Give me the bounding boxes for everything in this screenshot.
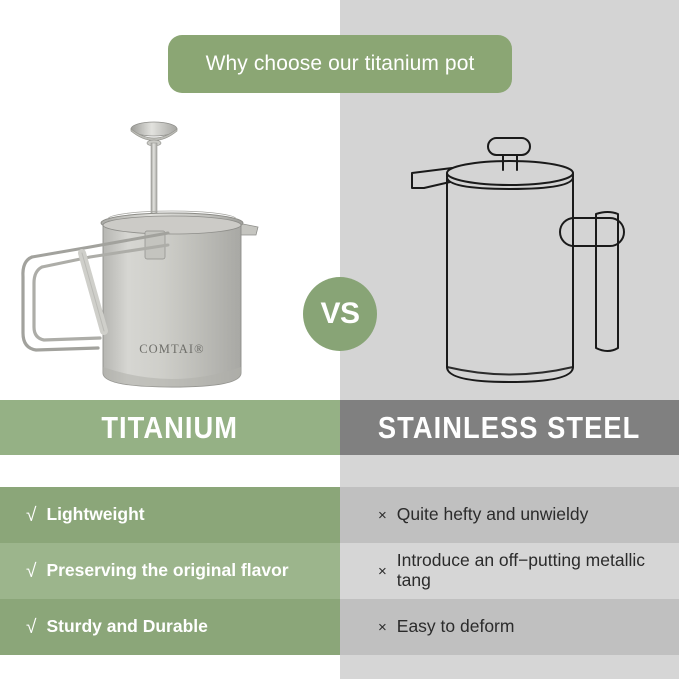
vs-label: VS xyxy=(320,299,359,329)
list-item: √ Preserving the original flavor xyxy=(0,543,340,599)
list-item: √ Sturdy and Durable xyxy=(0,599,340,655)
feature-text: Sturdy and Durable xyxy=(46,617,207,637)
column-title-titanium: TITANIUM xyxy=(0,400,340,455)
titanium-pot-image: COMTAI® xyxy=(20,105,320,395)
check-icon: √ xyxy=(26,562,36,581)
cross-icon: × xyxy=(378,620,387,635)
feature-text: Quite hefty and unwieldy xyxy=(397,505,589,525)
list-item: × Quite hefty and unwieldy xyxy=(340,487,679,543)
list-item: × Introduce an off−putting metallic tang xyxy=(340,543,679,599)
cross-icon: × xyxy=(378,508,387,523)
brand-label: COMTAI® xyxy=(139,342,205,356)
column-title-stainless-text: STAINLESS STEEL xyxy=(378,410,640,446)
check-icon: √ xyxy=(26,506,36,525)
feature-text: Introduce an off−putting metallic tang xyxy=(397,551,667,590)
titanium-pot-svg: COMTAI® xyxy=(20,105,320,395)
vs-badge: VS xyxy=(303,277,377,351)
stainless-feature-list: × Quite hefty and unwieldy × Introduce a… xyxy=(340,487,679,655)
feature-text: Lightweight xyxy=(46,505,144,525)
header-banner-text: Why choose our titanium pot xyxy=(206,52,475,76)
column-title-titanium-text: TITANIUM xyxy=(102,410,239,446)
column-title-stainless: STAINLESS STEEL xyxy=(340,400,679,455)
stainless-steel-pot-svg xyxy=(390,120,670,395)
header-banner: Why choose our titanium pot xyxy=(168,35,512,93)
feature-text: Preserving the original flavor xyxy=(46,561,288,581)
check-icon: √ xyxy=(26,618,36,637)
titanium-feature-list: √ Lightweight √ Preserving the original … xyxy=(0,487,340,655)
feature-text: Easy to deform xyxy=(397,617,515,637)
list-item: √ Lightweight xyxy=(0,487,340,543)
list-item: × Easy to deform xyxy=(340,599,679,655)
cross-icon: × xyxy=(378,564,387,579)
stainless-steel-pot-image xyxy=(390,120,670,395)
comparison-infographic: Why choose our titanium pot xyxy=(0,0,679,679)
